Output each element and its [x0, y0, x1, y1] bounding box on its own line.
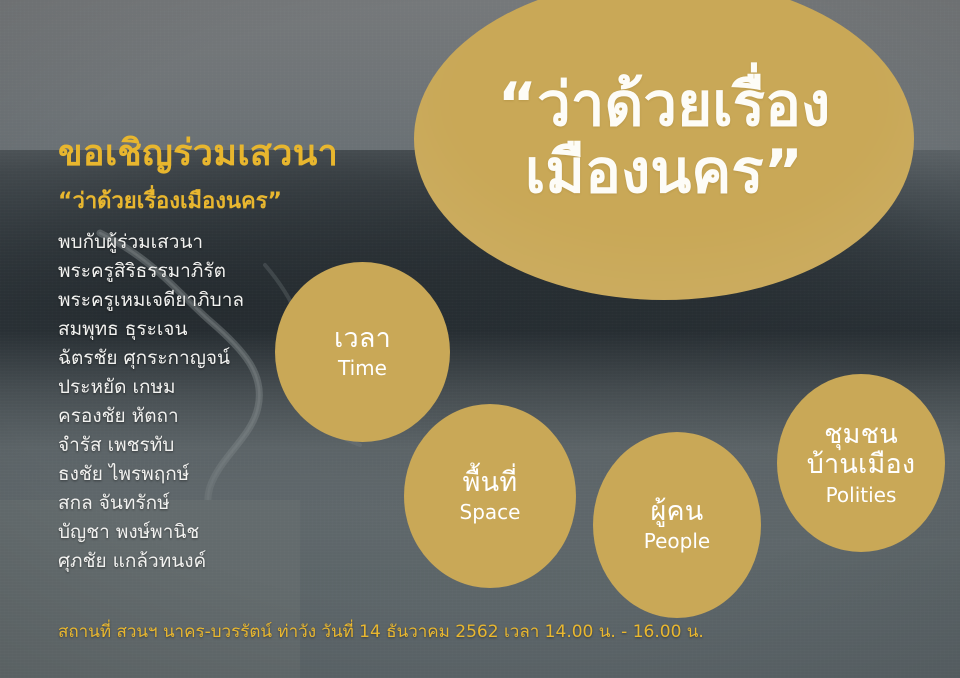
topic-label-en: Space — [460, 502, 521, 523]
topic-label-en: Polities — [826, 485, 897, 506]
page-title: ขอเชิญร่วมเสวนา — [58, 124, 338, 181]
topic-label-en: Time — [338, 358, 387, 379]
topic-circle-polities: ชุมชน บ้านเมือง Polities — [777, 374, 945, 552]
list-item: พระครูสิริธรรมาภิรัต — [58, 257, 338, 286]
list-item: ศุภชัย แกล้วทนงค์ — [58, 547, 338, 576]
topic-label-en: People — [644, 531, 710, 552]
main-title-circle: “ว่าด้วยเรื่อง เมืองนคร” — [414, 0, 914, 300]
topic-label-th: เวลา — [334, 325, 391, 354]
page-subtitle: “ว่าด้วยเรื่องเมืองนคร” — [58, 183, 282, 218]
main-title-line-1: “ว่าด้วยเรื่อง — [498, 72, 831, 139]
topic-circle-time: เวลา Time — [275, 262, 450, 442]
topic-circle-people: ผู้คน People — [593, 432, 761, 618]
topic-label-th-line-1: ชุมชน — [824, 420, 898, 450]
topic-label-th-line-2: บ้านเมือง — [807, 450, 916, 480]
list-item: ธงชัย ไพรพฤกษ์ — [58, 460, 338, 489]
topic-label-th: ผู้คน — [651, 498, 704, 527]
list-item: จำรัส เพชรทับ — [58, 431, 338, 460]
topic-circle-space: พื้นที่ Space — [404, 404, 576, 588]
list-item: บัญชา พงษ์พานิช — [58, 518, 338, 547]
list-item: พบกับผู้ร่วมเสวนา — [58, 228, 338, 257]
list-item: สกล จันทรักษ์ — [58, 489, 338, 518]
event-venue-and-time: สถานที่ สวนฯ นาคร-บวรรัตน์ ท่าวัง วันที่… — [58, 618, 704, 645]
topic-label-th: พื้นที่ — [463, 469, 518, 498]
poster-canvas: ขอเชิญร่วมเสวนา “ว่าด้วยเรื่องเมืองนคร” … — [0, 0, 960, 678]
main-title-line-2: เมืองนคร” — [525, 139, 803, 206]
